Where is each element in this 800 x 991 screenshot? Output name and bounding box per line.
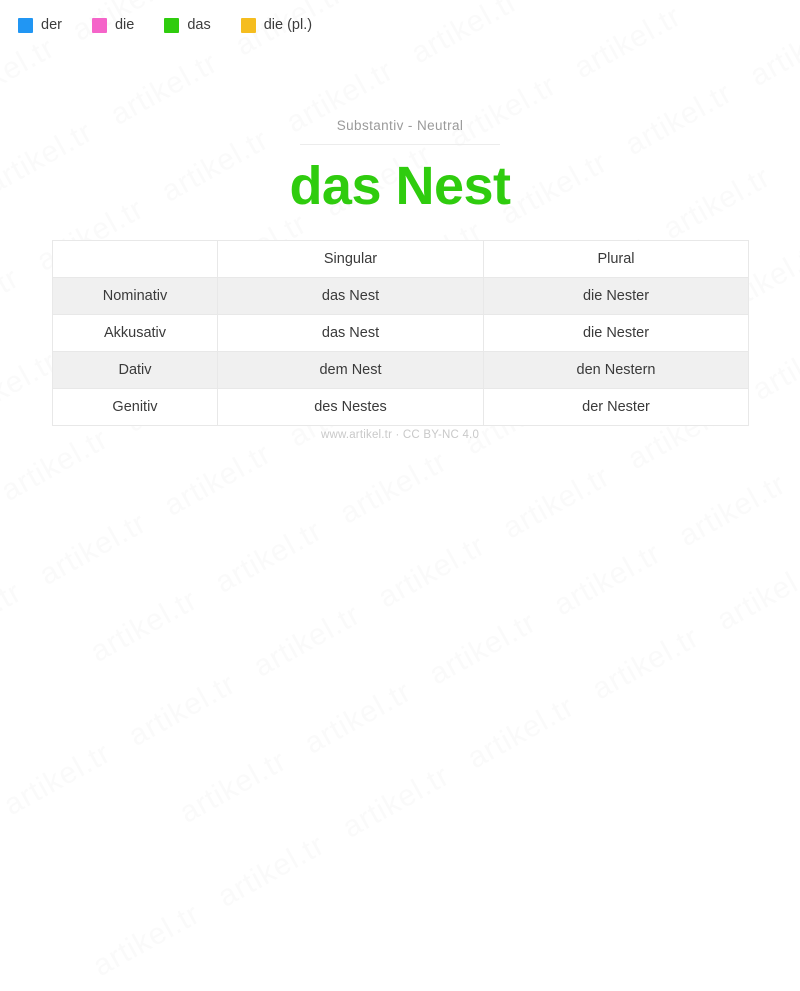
case-label-nominativ: Nominativ [53,278,218,315]
case-label-genitiv: Genitiv [53,389,218,426]
watermark-text: artikel.tr [763,628,800,713]
column-header-case [53,241,218,278]
legend-item-der[interactable]: der [18,17,62,33]
watermark-text: artikel.tr [462,690,580,775]
watermark-text: artikel.tr [337,759,455,844]
watermark-text: artikel.tr [85,583,203,668]
value-dativ-plural: den Nestern [484,352,749,389]
watermark-text: artikel.tr [388,836,506,921]
declension-table: Singular Plural Nominativ das Nest die N… [52,240,749,426]
watermark-text: artikel.tr [712,552,800,637]
watermark-text: artikel.tr [248,598,366,683]
watermark-text: artikel.tr [0,576,27,661]
color-swatch-green-icon [164,18,179,33]
color-swatch-pink-icon [92,18,107,33]
legend-label-die: die [115,17,134,33]
value-genitiv-plural: der Nester [484,389,749,426]
legend-label-das: das [187,17,210,33]
article-color-legend: der die das die (pl.) [18,17,342,33]
value-dativ-singular: dem Nest [218,352,484,389]
footer-attribution: www.artikel.tr · CC BY-NC 4.0 [0,429,800,441]
watermark-text: artikel.tr [263,905,381,990]
value-genitiv-singular: des Nestes [218,389,484,426]
watermark-text: artikel.tr [299,675,417,760]
watermark-text: artikel.tr [212,828,330,913]
watermark-row: artikel.trartikel.trartikel.trartikel.tr… [133,454,800,990]
watermark-text: artikel.tr [424,606,542,691]
legend-item-das[interactable]: das [164,17,210,33]
case-label-dativ: Dativ [53,352,218,389]
watermark-text: artikel.tr [174,744,292,829]
watermark-text: artikel.tr [0,736,116,821]
column-header-singular: Singular [218,241,484,278]
watermark-text: artikel.tr [123,667,241,752]
legend-item-die[interactable]: die [92,17,134,33]
noun-declension-card: der die das die (pl.) Substantiv - Neutr… [0,0,800,533]
color-swatch-amber-icon [241,18,256,33]
title-divider [300,144,500,145]
value-akkusativ-singular: das Nest [218,315,484,352]
table-row: Nominativ das Nest die Nester [53,278,749,315]
watermark-text: artikel.tr [638,698,756,783]
page-title: das Nest [0,157,800,216]
table-row: Genitiv des Nestes der Nester [53,389,749,426]
table-header-row: Singular Plural [53,241,749,278]
value-akkusativ-plural: die Nester [484,315,749,352]
legend-label-die-plural: die (pl.) [264,17,312,33]
word-category-subtitle: Substantiv - Neutral [0,118,800,133]
color-swatch-blue-icon [18,18,33,33]
table-row: Akkusativ das Nest die Nester [53,315,749,352]
legend-label-der: der [41,17,62,33]
column-header-plural: Plural [484,241,749,278]
legend-item-die-plural[interactable]: die (pl.) [241,17,312,33]
table-row: Dativ dem Nest den Nestern [53,352,749,389]
watermark-text: artikel.tr [513,767,631,852]
watermark-text: artikel.tr [373,529,491,614]
value-nominativ-singular: das Nest [218,278,484,315]
watermark-text: artikel.tr [587,621,705,706]
value-nominativ-plural: die Nester [484,278,749,315]
watermark-text: artikel.tr [549,537,667,622]
case-label-akkusativ: Akkusativ [53,315,218,352]
watermark-text: artikel.tr [88,897,206,982]
